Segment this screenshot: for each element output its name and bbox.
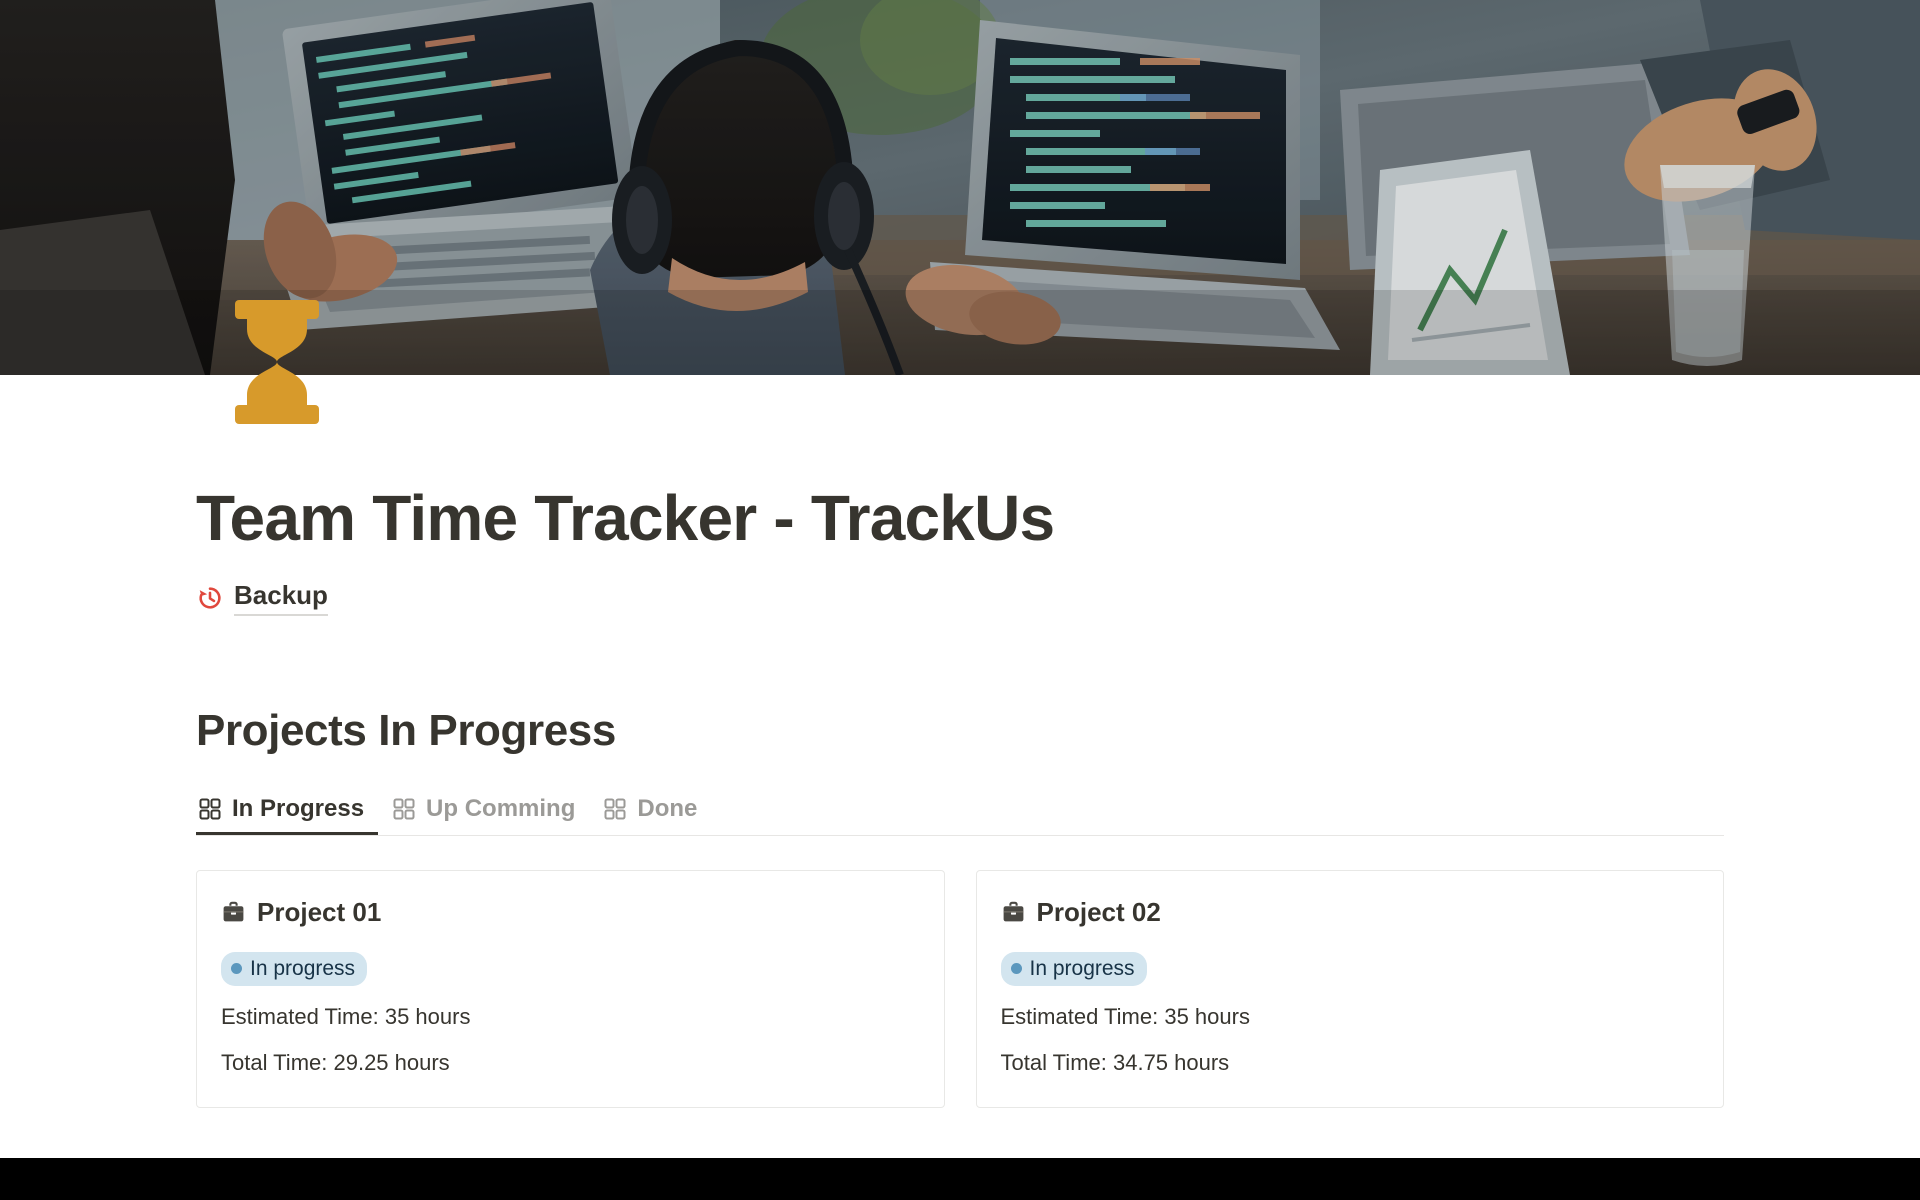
briefcase-icon — [1001, 900, 1026, 925]
card-title-row: Project 02 — [1001, 897, 1700, 928]
status-dot — [231, 963, 242, 974]
gallery-view-icon — [603, 797, 627, 821]
gallery-view-icon — [198, 797, 222, 821]
hourglass-icon[interactable] — [229, 300, 325, 424]
card-title-row: Project 01 — [221, 897, 920, 928]
section-heading: Projects In Progress — [196, 706, 1724, 757]
backup-label: Backup — [234, 581, 328, 616]
viewport-bottom-strip — [0, 1158, 1920, 1200]
tab-done[interactable]: Done — [589, 792, 711, 834]
view-tabs: In Progress Up Comming Done — [196, 792, 1724, 835]
briefcase-icon — [221, 900, 246, 925]
project-card[interactable]: Project 02 In progress Estimated Time: 3… — [976, 870, 1725, 1109]
tab-label: Done — [637, 796, 697, 822]
tab-label: Up Comming — [426, 796, 575, 822]
card-title: Project 02 — [1037, 897, 1161, 928]
page-root: Team Time Tracker - TrackUs Backup Proje… — [0, 0, 1920, 1200]
total-time: Total Time: 34.75 hours — [1001, 1048, 1700, 1078]
project-cards: Project 01 In progress Estimated Time: 3… — [196, 870, 1724, 1109]
gallery-view-icon — [392, 797, 416, 821]
tab-label: In Progress — [232, 796, 364, 822]
total-time: Total Time: 29.25 hours — [221, 1048, 920, 1078]
status-dot — [1011, 963, 1022, 974]
estimated-time: Estimated Time: 35 hours — [1001, 1002, 1700, 1032]
status-label: In progress — [1030, 956, 1135, 981]
estimated-time: Estimated Time: 35 hours — [221, 1002, 920, 1032]
tab-in-progress[interactable]: In Progress — [196, 792, 378, 834]
status-label: In progress — [250, 956, 355, 981]
backup-link[interactable]: Backup — [196, 581, 328, 616]
project-card[interactable]: Project 01 In progress Estimated Time: 3… — [196, 870, 945, 1109]
history-clock-icon — [196, 584, 224, 612]
card-title: Project 01 — [257, 897, 381, 928]
status-badge: In progress — [221, 952, 367, 986]
page-title: Team Time Tracker - TrackUs — [196, 483, 1724, 555]
page-content: Team Time Tracker - TrackUs Backup Proje… — [0, 375, 1920, 1108]
status-badge: In progress — [1001, 952, 1147, 986]
tab-up-comming[interactable]: Up Comming — [378, 792, 589, 834]
